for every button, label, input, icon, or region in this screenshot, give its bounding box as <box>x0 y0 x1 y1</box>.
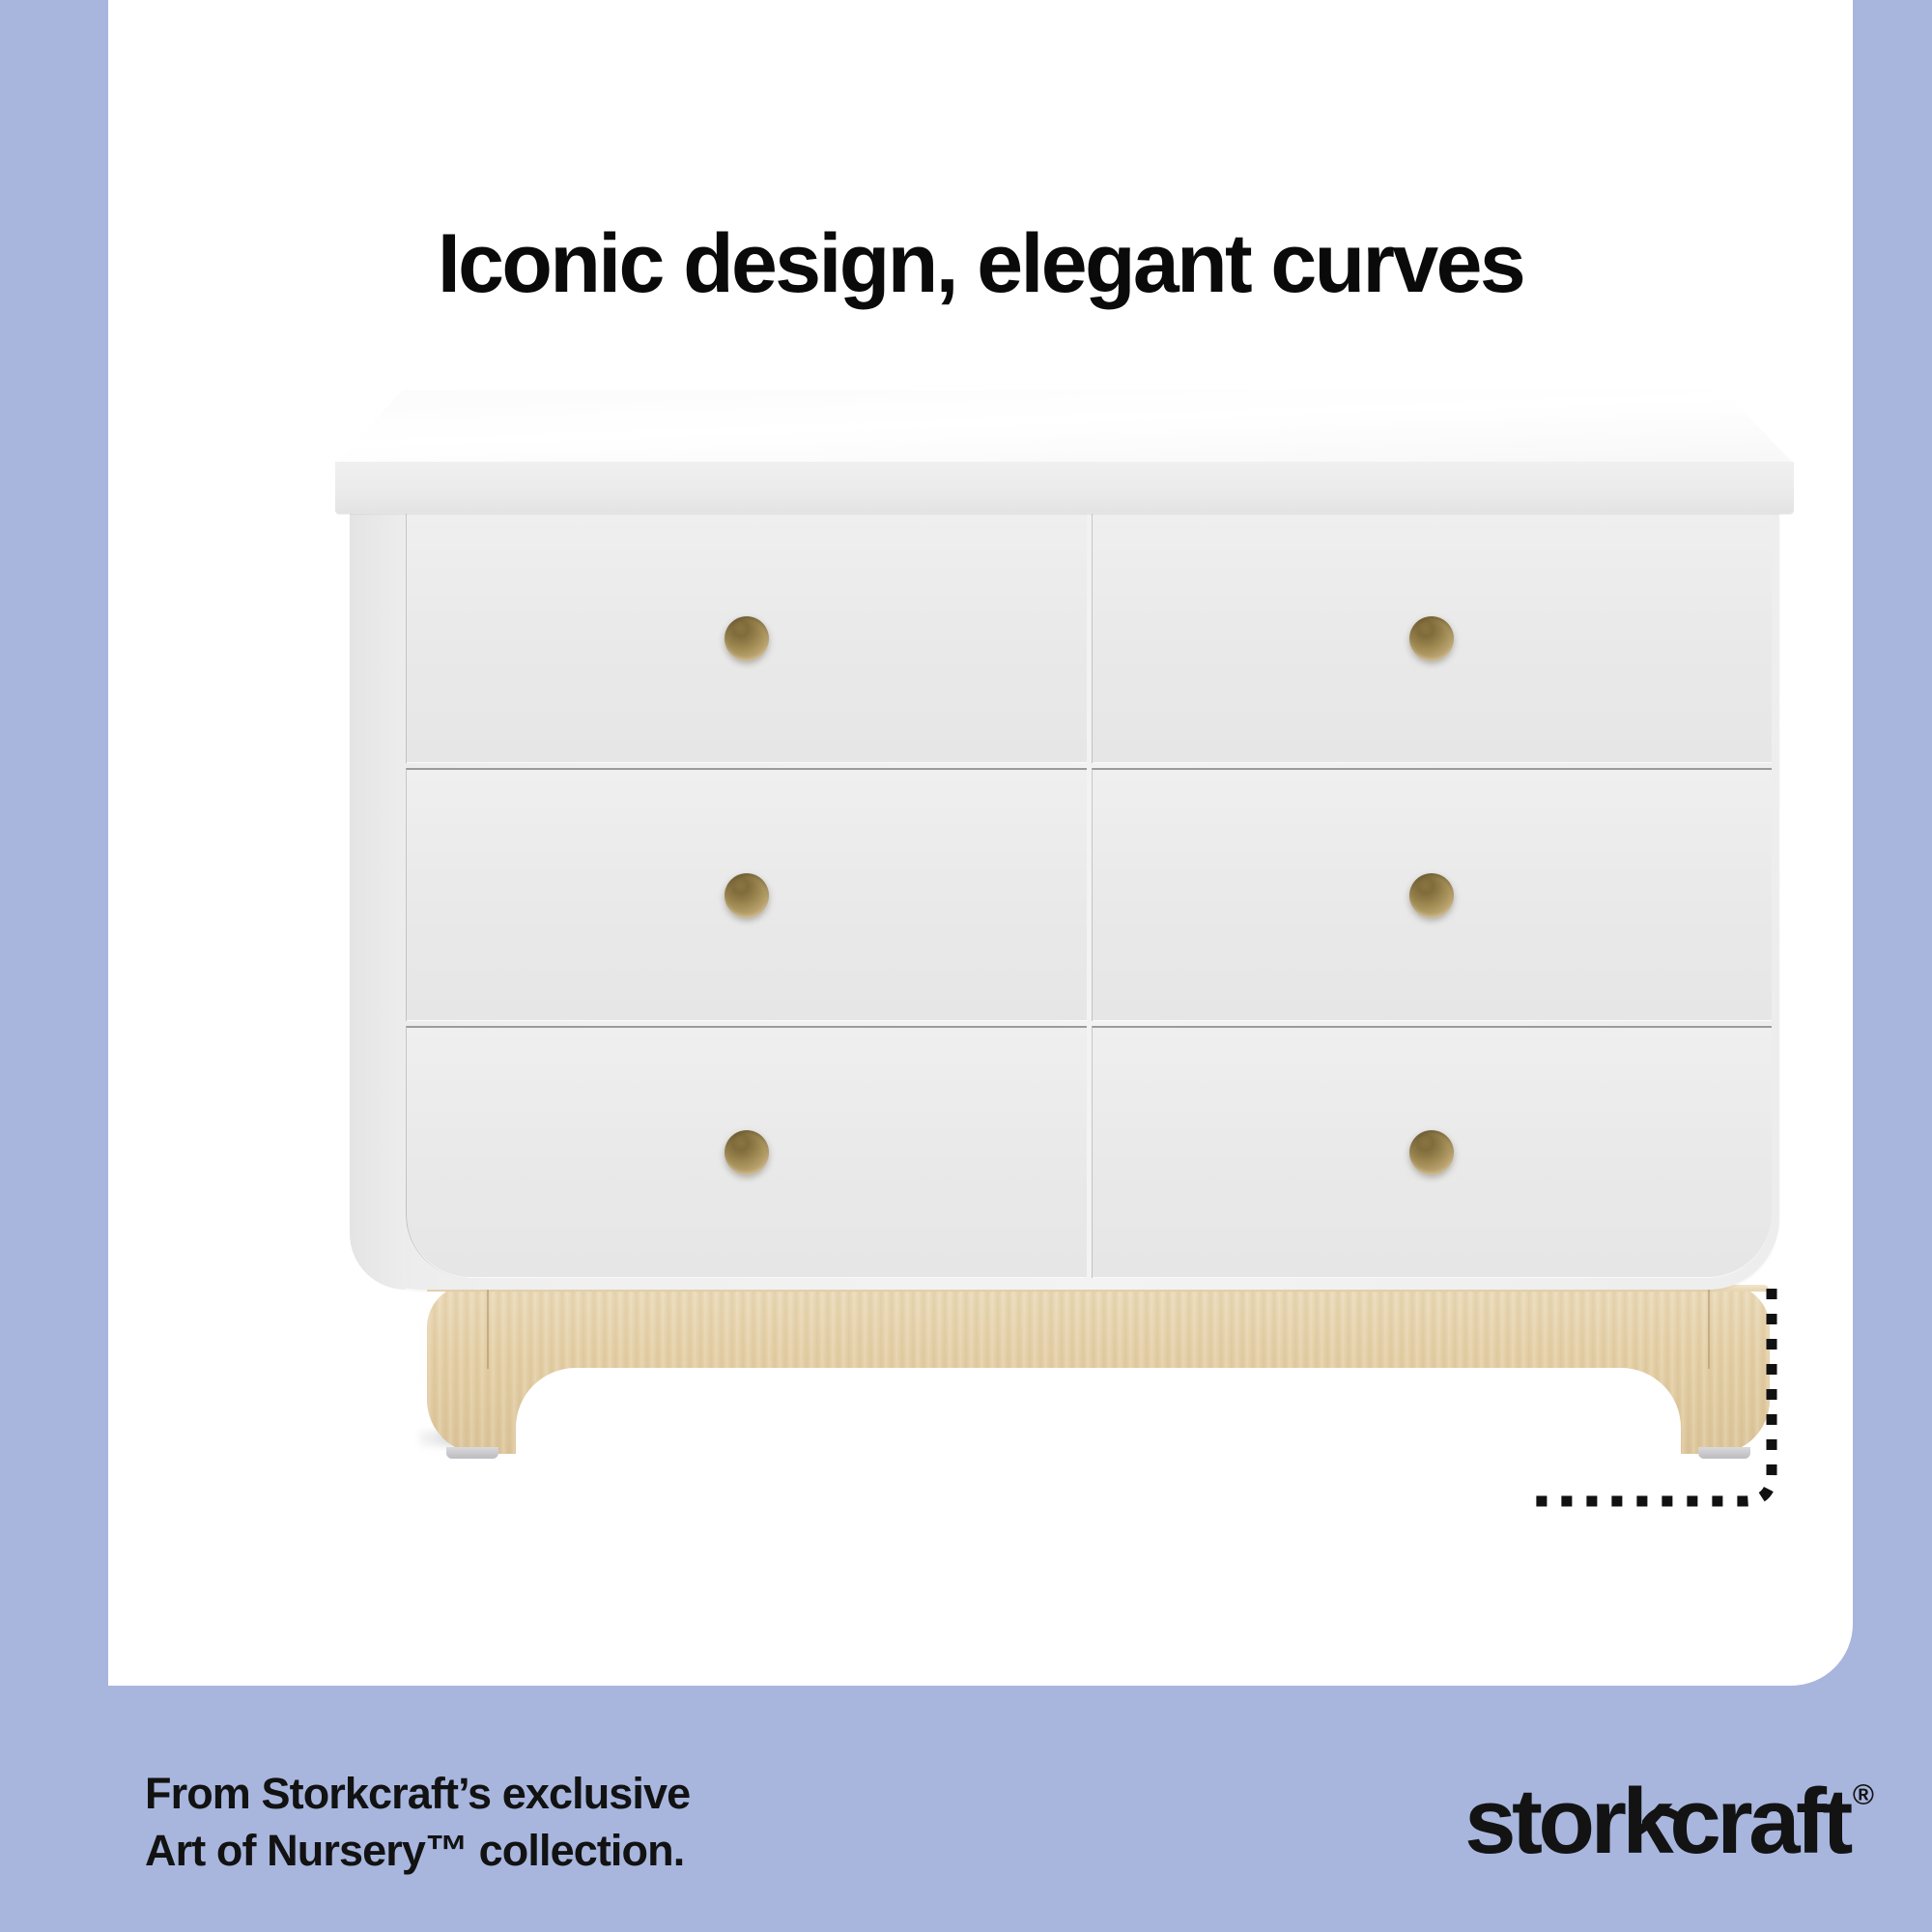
footer-caption: From Storkcraft’s exclusive Art of Nurse… <box>145 1766 690 1879</box>
knob-icon[interactable] <box>1409 616 1454 661</box>
knob-icon[interactable] <box>1409 1130 1454 1175</box>
marketing-image: Iconic design, elegant curves <box>0 0 1932 1932</box>
knob-icon[interactable] <box>724 1130 769 1175</box>
wood-base <box>427 1285 1770 1454</box>
foot-glide-left <box>446 1447 498 1459</box>
drawer-middle-left[interactable] <box>406 768 1087 1020</box>
drawer-grid <box>406 511 1776 1284</box>
dresser-case <box>350 507 1779 1290</box>
wood-seam-left <box>487 1288 489 1369</box>
knob-icon[interactable] <box>724 873 769 918</box>
product-card: Iconic design, elegant curves <box>108 0 1853 1686</box>
brand-logo: storkcraft ® <box>1464 1776 1874 1868</box>
drawer-middle-right[interactable] <box>1092 768 1773 1020</box>
product-image-dresser <box>108 0 1853 1686</box>
footer-line-1: From Storkcraft’s exclusive <box>145 1766 690 1823</box>
knob-icon[interactable] <box>724 616 769 661</box>
drawer-top-left[interactable] <box>406 511 1087 763</box>
top-surface <box>335 390 1794 464</box>
dresser-top-slab <box>335 390 1794 514</box>
case-side-panel <box>350 507 406 1290</box>
registered-trademark-icon: ® <box>1853 1781 1874 1810</box>
footer-line-2: Art of Nursery™ collection. <box>145 1823 690 1880</box>
drawer-bottom-left[interactable] <box>406 1026 1087 1278</box>
wood-arch-cutout <box>516 1368 1681 1484</box>
knob-icon[interactable] <box>1409 873 1454 918</box>
wood-seam-right <box>1708 1288 1710 1369</box>
stork-beak-icon <box>1642 1804 1687 1833</box>
top-front-edge <box>335 462 1794 514</box>
foot-glide-right <box>1698 1447 1750 1459</box>
drawer-bottom-right[interactable] <box>1092 1026 1773 1278</box>
drawer-top-right[interactable] <box>1092 511 1773 763</box>
